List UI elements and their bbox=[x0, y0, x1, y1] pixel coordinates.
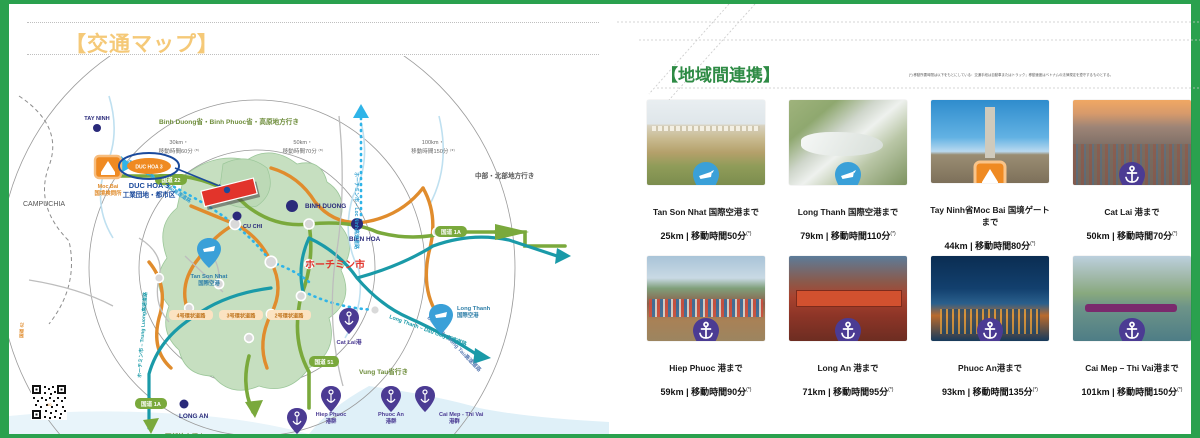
svg-text:移動時間70分 ⁽*⁾: 移動時間70分 ⁽*⁾ bbox=[283, 147, 324, 155]
label-hiep-phuoc-port: Hiep Phuoc bbox=[316, 412, 347, 418]
card-travel-time: 移動時間95分 bbox=[833, 387, 888, 397]
label-cu-chi: CU CHI bbox=[243, 224, 263, 230]
card-ref: (*) bbox=[1033, 387, 1038, 393]
card-travel-time: 移動時間135分 bbox=[973, 387, 1033, 397]
svg-text:DUC HOA 3: DUC HOA 3 bbox=[129, 181, 169, 190]
qr-code: 10 bbox=[31, 384, 67, 420]
card-travel-time: 移動時間90分 bbox=[691, 387, 746, 397]
label-binh-duong: BINH DUONG bbox=[305, 203, 346, 210]
svg-text:10: 10 bbox=[47, 402, 52, 407]
svg-text:2号環状道路: 2号環状道路 bbox=[275, 312, 305, 320]
destination-card-cai-mep-thi-vai[interactable]: Cai Mep – Thi Vai港まで 101km | 移動時間150分(*) bbox=[1065, 256, 1199, 408]
airplane-pin bbox=[691, 161, 721, 185]
card-title: Hiep Phuoc 港まで bbox=[644, 363, 768, 374]
card-sep: | bbox=[828, 387, 831, 397]
ring-road-3: 3号環状道路 bbox=[219, 310, 263, 320]
card-photo bbox=[647, 100, 765, 185]
label-direction-north: 中部・北部地方行き bbox=[475, 171, 534, 180]
anchor-pin bbox=[833, 317, 863, 341]
card-distance: 71km | 移動時間95分(*) bbox=[803, 385, 894, 398]
card-distance: 79km | 移動時間110分(*) bbox=[800, 229, 895, 242]
destination-card-hiep-phuoc[interactable]: Hiep Phuoc 港まで 59km | 移動時間90分(*) bbox=[639, 256, 773, 408]
card-ref: (*) bbox=[890, 231, 895, 237]
svg-text:移動時間60分 ⁽*⁾: 移動時間60分 ⁽*⁾ bbox=[159, 147, 200, 155]
page-title-region-cooperation: 【地域間連携】 bbox=[661, 61, 780, 86]
card-sep: | bbox=[826, 231, 829, 241]
card-title: Phuoc An港まで bbox=[928, 363, 1052, 374]
label-mocbai-sub: 国境検問所 bbox=[95, 189, 123, 197]
card-photo bbox=[1073, 256, 1191, 341]
label-mocbai: Moc Bai bbox=[98, 184, 119, 190]
label-expwy-locninh: ホーチミン市 – Loc Ninh高速道路 bbox=[353, 172, 360, 250]
label-cai-mep-port: Cai Mep - Thi Vai bbox=[439, 412, 484, 418]
card-ref: (*) bbox=[888, 387, 893, 393]
label-ho-chi-minh-city: ホーチミン市 bbox=[305, 258, 365, 271]
label-direction-vungtau: Vung Tau省行き bbox=[359, 367, 408, 376]
svg-text:移動時間150分 ⁽*⁾: 移動時間150分 ⁽*⁾ bbox=[411, 147, 455, 155]
card-distance: 93km | 移動時間135分(*) bbox=[942, 385, 1038, 398]
airplane-pin bbox=[833, 161, 863, 185]
destination-card-phuoc-an[interactable]: Phuoc An港まで 93km | 移動時間135分(*) bbox=[923, 256, 1057, 408]
label-tsn: Tan Son Nhat bbox=[191, 274, 228, 280]
card-distance-km: 50km bbox=[1087, 231, 1110, 241]
card-ref: (*) bbox=[1030, 241, 1035, 247]
anchor-pin bbox=[1117, 317, 1147, 341]
card-title: Cat Lai 港まで bbox=[1070, 207, 1194, 218]
svg-text:工業団地・都市区: 工業団地・都市区 bbox=[123, 190, 176, 199]
card-sep: | bbox=[968, 387, 971, 397]
card-title: Tan Son Nhat 国際空港まで bbox=[644, 207, 768, 218]
svg-text:DUC HOA 3: DUC HOA 3 bbox=[135, 165, 163, 171]
footnote-travel-time: (*) 移動所要時間は以下をもとにしている：交通手段は自動車またはトラック；移動… bbox=[909, 73, 1197, 78]
card-travel-time: 移動時間50分 bbox=[691, 231, 746, 241]
border-gate-icon-map bbox=[95, 156, 121, 178]
label-tay-ninh: TAY NINH bbox=[84, 116, 109, 122]
svg-text:30km・: 30km・ bbox=[169, 140, 188, 146]
card-title: Cai Mep – Thi Vai港まで bbox=[1070, 363, 1194, 374]
card-travel-time: 移動時間80分 bbox=[975, 241, 1030, 251]
card-photo bbox=[647, 256, 765, 341]
card-distance-km: 79km bbox=[800, 231, 823, 241]
border-gate-icon bbox=[973, 159, 1007, 183]
card-sep: | bbox=[686, 231, 689, 241]
destination-card-cat-lai[interactable]: Cat Lai 港まで 50km | 移動時間70分(*) bbox=[1065, 100, 1199, 252]
route-badge-1a-north: 国道 1A bbox=[435, 226, 467, 237]
label-campuchia: CAMPUCHIA bbox=[23, 201, 65, 208]
page-inner: 【交通マップ】 bbox=[9, 4, 1191, 434]
card-travel-time: 移動時間70分 bbox=[1117, 231, 1172, 241]
card-ref: (*) bbox=[746, 387, 751, 393]
rule-top bbox=[27, 22, 599, 23]
page-title-transport-map: 【交通マップ】 bbox=[65, 28, 219, 58]
label-phuoc-an-port: Phuoc An bbox=[378, 412, 404, 418]
svg-text:100km・: 100km・ bbox=[422, 140, 444, 146]
label-phuoc-an-sub: 港群 bbox=[386, 417, 397, 425]
card-title: Long Thanh 国際空港まで bbox=[786, 207, 910, 218]
card-sep: | bbox=[970, 241, 973, 251]
card-sep: | bbox=[1112, 231, 1115, 241]
label-hiep-phuoc-sub: 港群 bbox=[326, 417, 337, 425]
card-photo bbox=[789, 100, 907, 185]
ring-road-2: 2号環状道路 bbox=[267, 310, 311, 320]
destination-card-tan-son-nhat[interactable]: Tan Son Nhat 国際空港まで 25km | 移動時間50分(*) bbox=[639, 100, 773, 252]
card-ref: (*) bbox=[1172, 231, 1177, 237]
svg-text:50km・: 50km・ bbox=[293, 140, 312, 146]
card-photo bbox=[931, 256, 1049, 341]
card-sep: | bbox=[1112, 387, 1115, 397]
ring-road-4: 4号環状道路 bbox=[169, 310, 213, 320]
transport-map-panel: 【交通マップ】 bbox=[9, 4, 609, 434]
svg-text:4号環状道路: 4号環状道路 bbox=[177, 312, 207, 320]
card-photo bbox=[1073, 100, 1191, 185]
card-distance: 50km | 移動時間70分(*) bbox=[1087, 229, 1178, 242]
anchor-pin bbox=[1117, 161, 1147, 185]
card-distance: 59km | 移動時間90分(*) bbox=[661, 385, 752, 398]
destination-card-long-an[interactable]: Long An 港まで 71km | 移動時間95分(*) bbox=[781, 256, 915, 408]
card-distance-km: 93km bbox=[942, 387, 965, 397]
svg-text:国道 1A: 国道 1A bbox=[441, 228, 461, 236]
card-distance: 25km | 移動時間50分(*) bbox=[661, 229, 752, 242]
card-title: Long An 港まで bbox=[786, 363, 910, 374]
label-cat-lai-port: Cat Lai港 bbox=[336, 338, 361, 346]
destination-card-grid: Tan Son Nhat 国際空港まで 25km | 移動時間50分(*) bbox=[639, 100, 1199, 408]
card-photo bbox=[931, 100, 1049, 183]
region-cooperation-panel: 【地域間連携】 (*) 移動所要時間は以下をもとにしている：交通手段は自動車また… bbox=[609, 4, 1200, 434]
destination-card-long-thanh[interactable]: Long Thanh 国際空港まで 79km | 移動時間110分(*) bbox=[781, 100, 915, 252]
svg-text:3号環状道路: 3号環状道路 bbox=[227, 312, 257, 320]
transport-map-graphic: TAY NINH BINH DUONG BIEN HOA CU CHI LONG… bbox=[9, 56, 609, 434]
card-distance-km: 25km bbox=[661, 231, 684, 241]
label-lt: Long Thanh bbox=[457, 306, 491, 312]
card-title: Tay Ninh省Moc Bai 国境ゲートまで bbox=[928, 205, 1052, 228]
route-badge-1a-west: 国道 1A bbox=[135, 398, 167, 409]
card-photo bbox=[789, 256, 907, 341]
card-distance-km: 59km bbox=[661, 387, 684, 397]
card-distance: 44km | 移動時間80分(*) bbox=[945, 239, 1036, 252]
card-distance-km: 44km bbox=[945, 241, 968, 251]
label-tsn-sub: 国際空港 bbox=[198, 279, 220, 287]
brochure-page: 【交通マップ】 bbox=[0, 0, 1200, 438]
card-distance-km: 71km bbox=[803, 387, 826, 397]
card-distance-km: 101km bbox=[1082, 387, 1110, 397]
card-sep: | bbox=[686, 387, 689, 397]
label-lt-sub: 国際空港 bbox=[457, 311, 479, 319]
svg-text:国道 51: 国道 51 bbox=[315, 358, 334, 366]
card-travel-time: 移動時間150分 bbox=[1117, 387, 1177, 397]
card-travel-time: 移動時間110分 bbox=[831, 231, 891, 241]
svg-text:国道 1A: 国道 1A bbox=[141, 400, 161, 408]
card-ref: (*) bbox=[746, 231, 751, 237]
card-distance: 101km | 移動時間150分(*) bbox=[1082, 385, 1183, 398]
label-long-an-city: LONG AN bbox=[179, 413, 209, 420]
label-cai-mep-sub: 港群 bbox=[449, 417, 460, 425]
anchor-pin bbox=[691, 317, 721, 341]
destination-card-moc-bai-gate[interactable]: Tay Ninh省Moc Bai 国境ゲートまで 44km | 移動時間80分(… bbox=[923, 100, 1057, 252]
route-badge-51: 国道 51 bbox=[309, 356, 339, 367]
anchor-pin bbox=[975, 317, 1005, 341]
ring-road-badges: 4号環状道路 3号環状道路 2号環状道路 bbox=[169, 310, 311, 320]
card-ref: (*) bbox=[1177, 387, 1182, 393]
label-direction-binhduong: Binh Duong省・Binh Phuoc省・高原地方行き bbox=[159, 117, 299, 126]
